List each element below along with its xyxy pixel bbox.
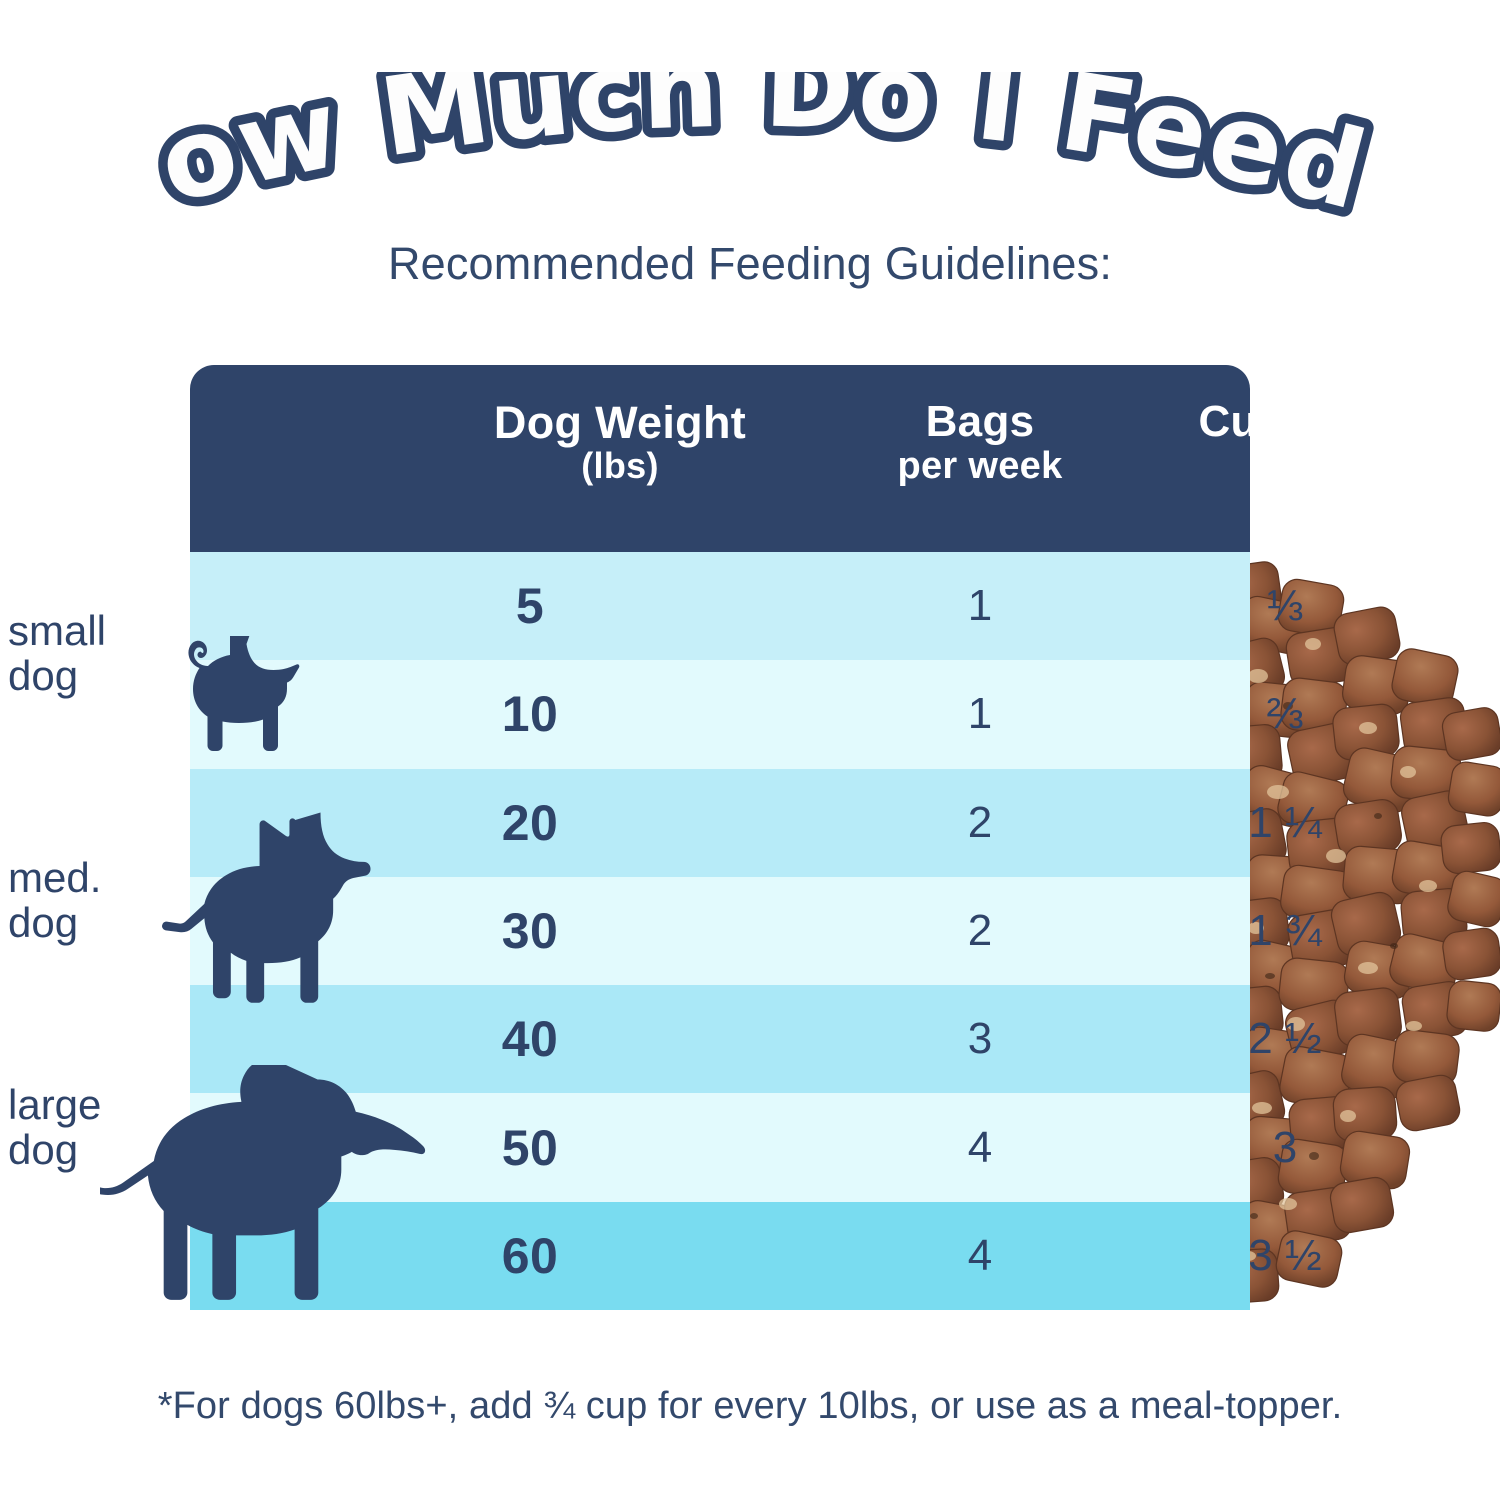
column-header-bags-line1: Bags [810,399,1150,446]
group-label-small-dog: small dog [8,608,176,699]
group-label-small-line1: small [8,608,176,653]
group-label-small-line2: dog [8,653,176,698]
cell-cups-per-day: 1 ¾ [1115,877,1455,985]
cell-cups-per-day: 3 [1115,1093,1455,1201]
column-header-cups-line1: Cups per [1120,399,1470,446]
cell-bags-per-week: 1 [810,552,1150,660]
cell-cups-per-day: ⅓ [1115,552,1455,660]
cell-bags-per-week: 4 [810,1202,1150,1310]
svg-text:How Much Do I Feed?: How Much Do I Feed? [100,72,1380,232]
medium-dog-silhouette-icon [148,806,378,1011]
cell-cups-per-day: ⅔ [1115,660,1455,768]
column-header-dog-weight-line1: Dog Weight [360,399,880,447]
cell-bags-per-week: 4 [810,1093,1150,1201]
footnote-text: *For dogs 60lbs+, add ¾ cup for every 10… [0,1385,1500,1428]
page-title-container: How Much Do I Feed? [0,72,1500,242]
page-title: How Much Do I Feed? [100,72,1400,232]
cell-dog-weight: 10 [380,660,680,768]
table-row: 51⅓ [190,552,1250,660]
column-header-cups-line2: day [1120,446,1470,486]
cell-bags-per-week: 3 [810,985,1150,1093]
cell-dog-weight: 20 [380,769,680,877]
column-header-dog-weight-line2: (lbs) [360,447,880,485]
column-header-dog-weight: Dog Weight (lbs) [360,399,880,485]
page-subtitle: Recommended Feeding Guidelines: [0,238,1500,290]
column-header-bags-line2: per week [810,446,1150,486]
small-dog-silhouette-icon [165,636,310,776]
column-header-bags-per-week: Bags per week [810,399,1150,486]
cell-dog-weight: 30 [380,877,680,985]
cell-cups-per-day: 1 ¼ [1115,769,1455,877]
table-row: 101⅔ [190,660,1250,768]
large-dog-silhouette-icon [100,1065,430,1315]
cell-dog-weight: 5 [380,552,680,660]
cell-cups-per-day: 3 ½ [1115,1202,1455,1310]
table-header-row: Dog Weight (lbs) Bags per week Cups per … [190,365,1250,552]
cell-bags-per-week: 2 [810,877,1150,985]
page-title-text: How Much Do I Feed? [100,72,1380,232]
column-header-cups-per-day: Cups per day [1120,399,1470,486]
cell-bags-per-week: 1 [810,660,1150,768]
cell-bags-per-week: 2 [810,769,1150,877]
cell-cups-per-day: 2 ½ [1115,985,1455,1093]
